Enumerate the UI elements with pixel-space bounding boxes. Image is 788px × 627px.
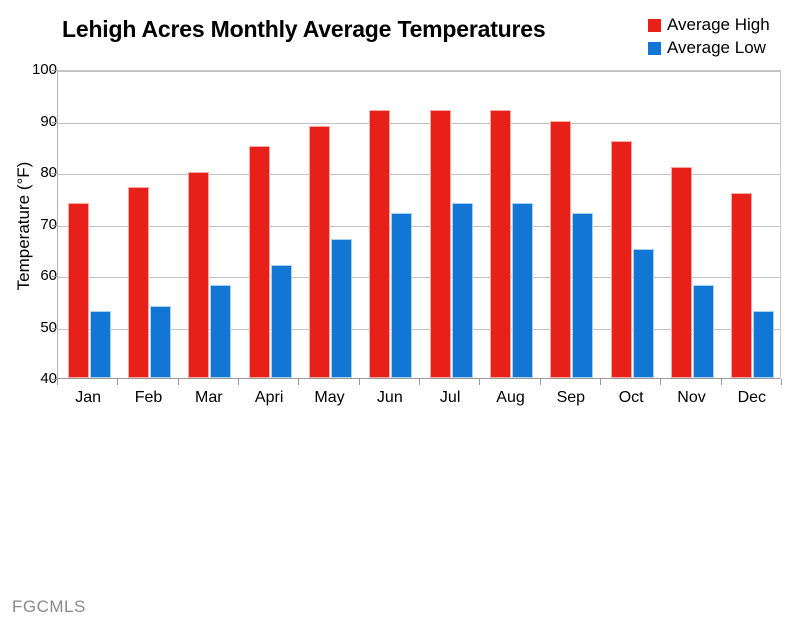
x-axis-tick-mark xyxy=(721,379,722,385)
bar-average-high xyxy=(430,110,451,378)
bar-group xyxy=(128,71,171,378)
bar-average-high xyxy=(188,172,209,378)
x-axis-tick-mark xyxy=(117,379,118,385)
bar-average-high xyxy=(550,121,571,379)
chart-legend: Average High Average Low xyxy=(648,14,788,60)
y-axis-ticks: 100908070605040 xyxy=(0,70,57,379)
y-axis-tick-label: 40 xyxy=(11,370,57,387)
x-axis-tick-label: May xyxy=(298,389,361,407)
x-axis-tick-mark xyxy=(359,379,360,385)
bar-group xyxy=(550,71,593,378)
plot-area xyxy=(57,70,781,379)
x-axis-tick-label: Oct xyxy=(600,389,663,407)
x-axis-tick-label: Jul xyxy=(419,389,482,407)
bar-average-low xyxy=(210,285,231,378)
x-axis-tick-label: Mar xyxy=(177,389,240,407)
x-axis-tick-label: Aug xyxy=(479,389,542,407)
x-axis-tick-label: Nov xyxy=(660,389,723,407)
bar-average-low xyxy=(391,213,412,378)
x-axis-tick-label: Apri xyxy=(238,389,301,407)
bar-average-low xyxy=(753,311,774,378)
bar-average-high xyxy=(369,110,390,378)
bar-group xyxy=(490,71,533,378)
bar-average-high xyxy=(128,187,149,378)
y-axis-tick-label: 60 xyxy=(11,267,57,284)
watermark-label: FGCMLS xyxy=(12,597,86,617)
bar-group xyxy=(671,71,714,378)
x-axis-tick-mark xyxy=(178,379,179,385)
x-axis-tick-label: Jun xyxy=(358,389,421,407)
y-axis-tick-label: 90 xyxy=(11,113,57,130)
bar-average-high xyxy=(309,126,330,378)
x-axis-tick-mark xyxy=(298,379,299,385)
bar-group xyxy=(68,71,111,378)
x-axis-tick-mark xyxy=(600,379,601,385)
legend-item-average-low: Average Low xyxy=(648,37,788,59)
bar-group xyxy=(731,71,774,378)
x-axis-tick-mark xyxy=(419,379,420,385)
x-axis-tick-label: Dec xyxy=(720,389,783,407)
bar-group xyxy=(611,71,654,378)
bar-average-low xyxy=(271,265,292,378)
legend-swatch-average-low xyxy=(648,42,661,55)
bar-average-low xyxy=(633,249,654,378)
bar-group xyxy=(188,71,231,378)
bar-average-low xyxy=(512,203,533,378)
bar-average-high xyxy=(671,167,692,378)
x-axis-tick-label: Sep xyxy=(539,389,602,407)
x-axis-tick-label: Feb xyxy=(117,389,180,407)
y-axis-tick-label: 100 xyxy=(11,61,57,78)
bar-group xyxy=(309,71,352,378)
x-axis-tick-mark xyxy=(238,379,239,385)
y-axis-tick-label: 70 xyxy=(11,216,57,233)
x-axis-tick-mark xyxy=(57,379,58,385)
legend-item-average-high: Average High xyxy=(648,14,788,36)
bar-average-high xyxy=(68,203,89,378)
bar-average-high xyxy=(731,193,752,378)
legend-swatch-average-high xyxy=(648,19,661,32)
x-axis-tick-mark xyxy=(781,379,782,385)
bar-average-high xyxy=(249,146,270,378)
bar-average-low xyxy=(90,311,111,378)
x-axis-tick-mark xyxy=(660,379,661,385)
chart-container: Lehigh Acres Monthly Average Temperature… xyxy=(0,0,788,627)
bar-average-low xyxy=(693,285,714,378)
bar-average-low xyxy=(331,239,352,378)
bar-group xyxy=(369,71,412,378)
bar-group xyxy=(430,71,473,378)
bar-average-low xyxy=(572,213,593,378)
x-axis-tick-mark xyxy=(540,379,541,385)
bar-average-high xyxy=(490,110,511,378)
legend-label-average-low: Average Low xyxy=(667,39,766,57)
y-axis-tick-label: 50 xyxy=(11,319,57,336)
x-axis-tick-mark xyxy=(479,379,480,385)
bar-average-low xyxy=(150,306,171,378)
chart-title: Lehigh Acres Monthly Average Temperature… xyxy=(62,16,602,43)
legend-label-average-high: Average High xyxy=(667,16,770,34)
bar-average-high xyxy=(611,141,632,378)
bar-average-low xyxy=(452,203,473,378)
x-axis: JanFebMarApriMayJunJulAugSepOctNovDec xyxy=(57,379,781,413)
y-axis-tick-label: 80 xyxy=(11,164,57,181)
bar-group xyxy=(249,71,292,378)
x-axis-tick-label: Jan xyxy=(57,389,120,407)
